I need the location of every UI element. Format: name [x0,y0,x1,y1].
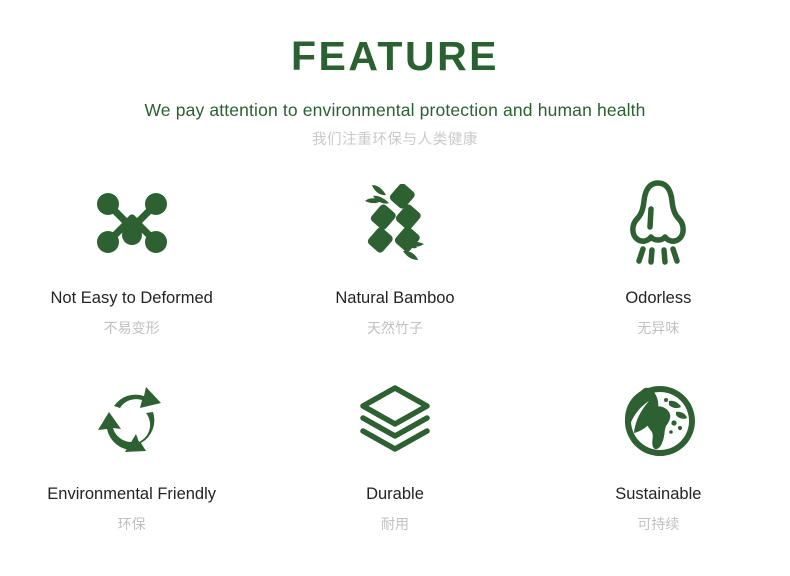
feature-item-sustainable: Sustainable 可持续 [527,369,790,565]
feature-label-chinese: 耐用 [381,516,409,533]
feature-label-english: Sustainable [615,485,701,505]
globe-leaf-icon [619,369,697,469]
node-network-icon [95,173,169,273]
feature-label-english: Durable [366,485,424,505]
feature-label-english: Natural Bamboo [335,289,454,309]
feature-label-english: Not Easy to Deformed [51,289,213,309]
subtitle-chinese: 我们注重环保与人类健康 [0,132,790,149]
feature-label-chinese: 无异味 [637,320,679,337]
feature-label-english: Environmental Friendly [47,485,216,505]
feature-label-chinese: 可持续 [637,516,679,533]
feature-item-natural-bamboo: Natural Bamboo 天然竹子 [263,173,526,369]
section-header: FEATURE We pay attention to environmenta… [0,0,790,149]
feature-item-environmental-friendly: Environmental Friendly 环保 [0,369,263,565]
page-title: FEATURE [0,34,790,79]
recycle-icon [94,369,170,469]
layers-icon [358,369,432,469]
feature-item-not-easy-to-deformed: Not Easy to Deformed 不易变形 [0,173,263,369]
feature-label-chinese: 环保 [118,516,146,533]
feature-item-odorless: Odorless 无异味 [527,173,790,369]
subtitle-english: We pay attention to environmental protec… [0,100,790,121]
feature-grid: Not Easy to Deformed 不易变形 [0,173,790,565]
feature-label-chinese: 天然竹子 [367,320,423,337]
bamboo-icon [362,173,428,273]
feature-label-english: Odorless [625,289,691,309]
feature-item-durable: Durable 耐用 [263,369,526,565]
feature-section: FEATURE We pay attention to environmenta… [0,0,790,576]
nose-icon [627,173,689,273]
feature-label-chinese: 不易变形 [104,320,160,337]
